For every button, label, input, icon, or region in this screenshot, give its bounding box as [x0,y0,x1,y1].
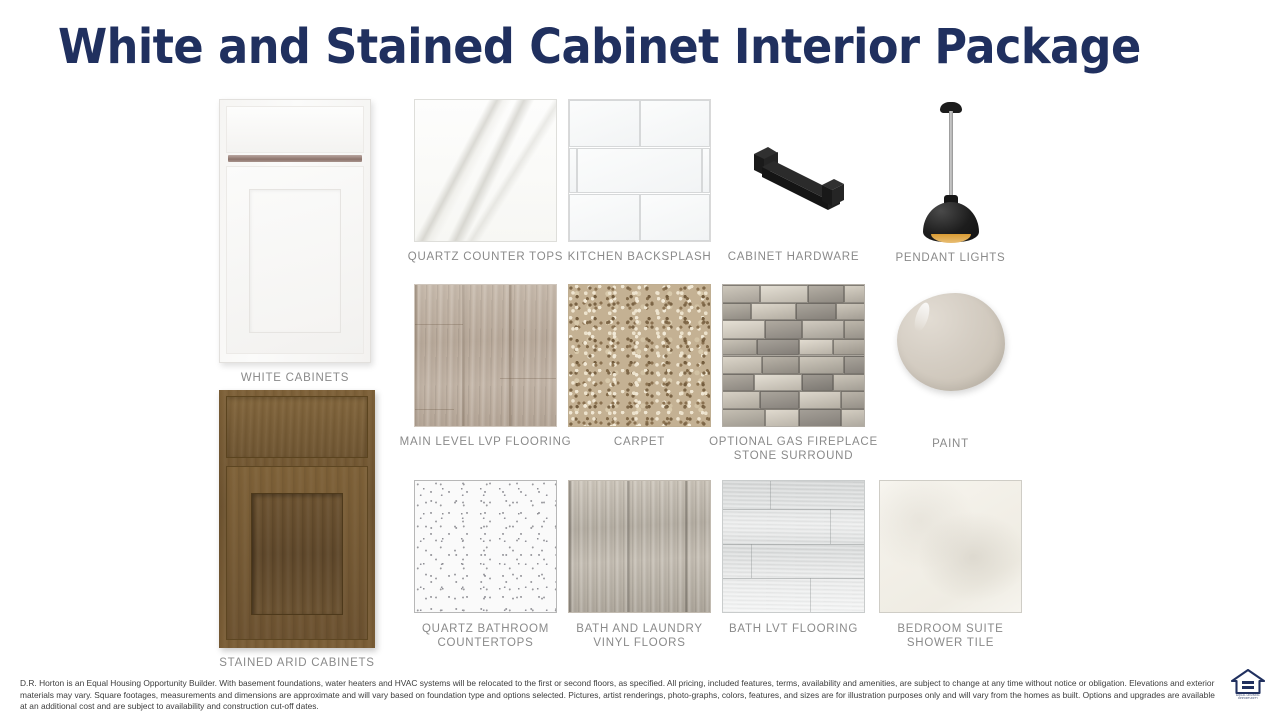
equal-housing-logo-text: EQUAL HOUSING OPPORTUNITY [1231,694,1265,701]
bar-pull-icon [722,99,865,242]
backsplash-tile-row [569,194,710,241]
stained-cabinet-door-image [219,390,375,648]
swatch-card-quartz-counter-tops[interactable]: QUARTZ COUNTER TOPS [414,99,557,242]
backsplash-tile [702,148,710,193]
swatch-card-optional-gas-fireplace-stone-surround[interactable]: OPTIONAL GAS FIREPLACE STONE SURROUND [722,284,865,427]
bath-laundry-vinyl-floor-image [568,480,711,613]
plank-seam [723,578,864,579]
lvp-flooring-image [414,284,557,427]
swatch-label-pendant-lights: PENDANT LIGHTS [836,251,1066,265]
cabinet-hardware-image [722,99,865,242]
plank-seam [415,324,463,325]
quartz-bathroom-countertop-image [414,480,557,613]
kitchen-backsplash-image [568,99,711,242]
backsplash-tile [577,148,701,193]
swatch-card-bedroom-suite-shower-tile[interactable]: BEDROOM SUITE SHOWER TILE [879,480,1022,613]
backsplash-tile [569,194,640,241]
plank-seam [770,481,771,509]
plank-seam [500,378,556,379]
plank-seam [751,544,752,578]
plank-seam [830,509,831,544]
swatch-label-bedroom-suite-shower-tile: BEDROOM SUITE SHOWER TILE [836,622,1066,650]
swatch-card-carpet[interactable]: CARPET [568,284,711,427]
swatch-card-white-cabinets[interactable]: WHITE CABINETS [219,99,371,363]
swatch-card-paint[interactable]: PAINT [879,282,1022,432]
plank-seam [723,544,864,545]
stained-cabinet-recessed-panel [251,493,343,615]
backsplash-tile [640,100,711,147]
swatch-card-stained-arid-cabinets[interactable]: STAINED ARID CABINETS [219,390,375,648]
equal-housing-icon [1231,669,1265,695]
cabinet-door-recessed-panel [249,189,341,333]
paint-swatch-image [879,282,1022,432]
legal-disclaimer: D.R. Horton is an Equal Housing Opportun… [20,678,1218,713]
swatch-label-white-cabinets: WHITE CABINETS [180,371,410,385]
swatch-card-bath-lvt-flooring[interactable]: BATH LVT FLOORING [722,480,865,613]
paint-blob [897,293,1005,391]
swatch-card-kitchen-backsplash[interactable]: KITCHEN BACKSPLASH [568,99,711,242]
cabinet-drawer-face [226,106,364,153]
carpet-image [568,284,711,427]
cabinet-drawer-pull [228,155,362,162]
equal-housing-opportunity-logo: EQUAL HOUSING OPPORTUNITY [1231,669,1265,703]
bedroom-suite-shower-tile-image [879,480,1022,613]
backsplash-tile [640,194,711,241]
swatch-card-bath-and-laundry-vinyl-floors[interactable]: BATH AND LAUNDRY VINYL FLOORS [568,480,711,613]
plank-seam [723,509,864,510]
backsplash-tile-row [569,100,710,147]
swatch-card-main-level-lvp-flooring[interactable]: MAIN LEVEL LVP FLOORING [414,284,557,427]
swatch-card-pendant-lights[interactable]: PENDANT LIGHTS [879,96,1022,246]
stained-cabinet-drawer-face [226,396,368,458]
bath-lvt-flooring-image [722,480,865,613]
plank-seam [810,578,811,612]
stone-surround-image [722,284,865,427]
design-selection-board: White and Stained Cabinet Interior Packa… [0,0,1280,720]
plank-seam [415,409,454,410]
page-title: White and Stained Cabinet Interior Packa… [58,16,1146,78]
swatch-card-cabinet-hardware[interactable]: CABINET HARDWARE [722,99,865,242]
pendant-rod [949,111,953,199]
pendant-inner-glow [931,234,971,243]
swatch-label-stained-arid-cabinets: STAINED ARID CABINETS [182,656,412,670]
quartz-counter-top-image [414,99,557,242]
backsplash-tile-row [569,148,710,193]
swatch-label-paint: PAINT [836,437,1066,451]
white-cabinet-door-image [219,99,371,363]
backsplash-tile [569,148,577,193]
pendant-light-image [879,96,1022,246]
backsplash-tile [569,100,640,147]
cabinet-door-face [226,166,364,354]
stained-cabinet-door-face [226,466,368,640]
swatch-card-quartz-bathroom-countertops[interactable]: QUARTZ BATHROOM COUNTERTOPS [414,480,557,613]
